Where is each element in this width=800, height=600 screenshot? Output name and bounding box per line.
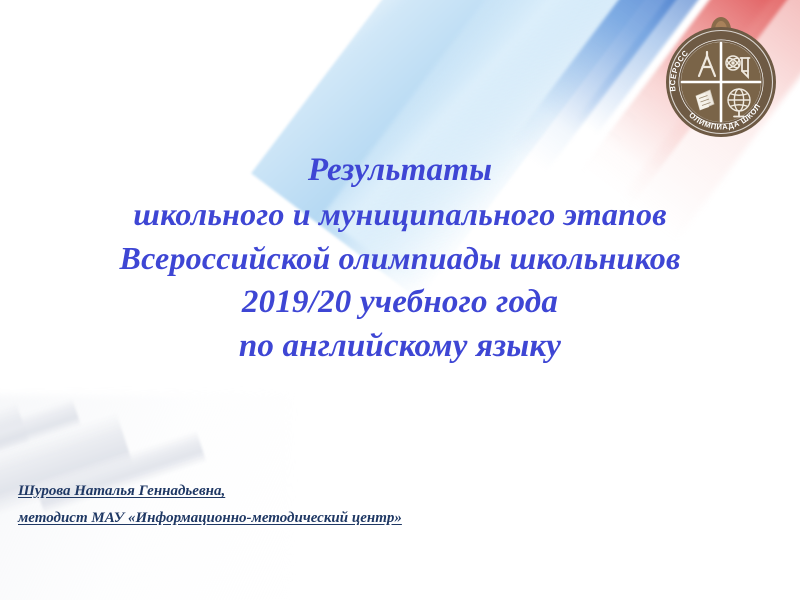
title-line-1: Результаты	[0, 148, 800, 192]
title-line-3: Всероссийской олимпиады школьников	[0, 236, 800, 280]
olympiad-logo: ВСЕРОССИЙСКАЯ ОЛИМПИАДА ШКОЛЬНИКОВ	[652, 8, 790, 146]
author-affiliation: методист МАУ «Информационно-методический…	[18, 505, 758, 532]
author-name: Шурова Наталья Геннадьевна,	[18, 478, 758, 505]
title-line-4: 2019/20 учебного года	[0, 280, 800, 324]
slide-title: Результаты школьного и муниципального эт…	[0, 148, 800, 368]
presentation-slide: ВСЕРОССИЙСКАЯ ОЛИМПИАДА ШКОЛЬНИКОВ	[0, 0, 800, 600]
title-line-5: по английскому языку	[0, 324, 800, 368]
author-credit: Шурова Наталья Геннадьевна, методист МАУ…	[18, 478, 758, 532]
title-line-2: школьного и муниципального этапов	[0, 192, 800, 236]
